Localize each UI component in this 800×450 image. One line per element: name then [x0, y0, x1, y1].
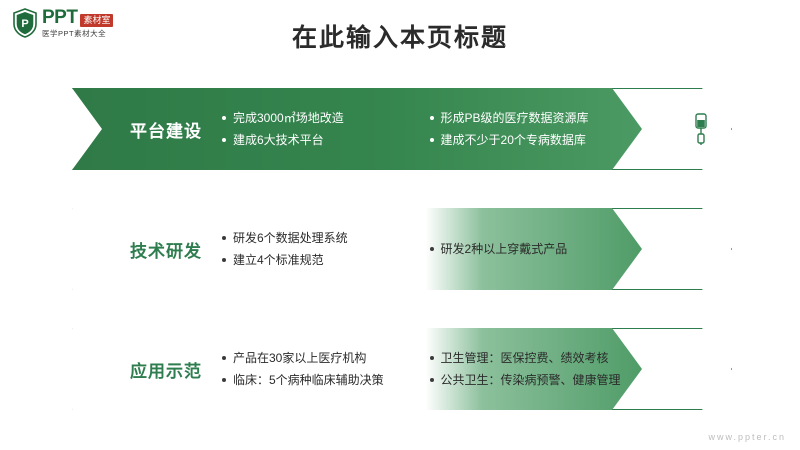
list-item: 研发2种以上穿戴式产品: [430, 241, 642, 257]
bullet-text: 形成PB级的医疗数据资源库: [441, 110, 589, 126]
bullet-dot-icon: [222, 138, 226, 142]
row-label-2: 技术研发: [106, 208, 226, 290]
bullet-text: 研发2种以上穿戴式产品: [441, 241, 568, 257]
bullet-column: 产品在30家以上医疗机构 临床：5个病种临床辅助决策: [222, 344, 430, 394]
bullet-text: 完成3000㎡场地改造: [233, 110, 344, 126]
list-item: 产品在30家以上医疗机构: [222, 350, 430, 366]
bullet-dot-icon: [430, 116, 434, 120]
bullet-text: 公共卫生：传染病预警、健康管理: [441, 372, 621, 388]
content-row-1: 平台建设 完成3000㎡场地改造 建成6大技术平台 形成PB级的医疗数据资源库: [72, 88, 732, 170]
iv-drip-icon: [684, 108, 718, 150]
ecg-monitor-icon: [684, 228, 718, 270]
bullet-column: 完成3000㎡场地改造 建成6大技术平台: [222, 104, 430, 154]
bullet-dot-icon: [430, 247, 434, 251]
row-bullets-3: 产品在30家以上医疗机构 临床：5个病种临床辅助决策 卫生管理：医保控费、绩效考…: [222, 328, 642, 410]
footer-watermark: www.ppter.cn: [708, 432, 786, 442]
bullet-text: 建成不少于20个专病数据库: [441, 132, 586, 148]
bullet-dot-icon: [430, 378, 434, 382]
list-item: 建成不少于20个专病数据库: [430, 132, 642, 148]
list-item: 建成6大技术平台: [222, 132, 430, 148]
list-item: 形成PB级的医疗数据资源库: [430, 110, 642, 126]
bullet-column: 研发2种以上穿戴式产品: [430, 235, 642, 263]
bullet-dot-icon: [222, 258, 226, 262]
bullet-text: 临床：5个病种临床辅助决策: [233, 372, 384, 388]
slide: P PPT 素材室 医学PPT素材大全 在此输入本页标题 平台建设 完成3000…: [0, 0, 800, 450]
bullet-text: 研发6个数据处理系统: [233, 230, 348, 246]
content-row-2: 技术研发 研发6个数据处理系统 建立4个标准规范 研发2种以上穿戴式产品: [72, 208, 732, 290]
row-bullets-2: 研发6个数据处理系统 建立4个标准规范 研发2种以上穿戴式产品: [222, 208, 642, 290]
list-item: 公共卫生：传染病预警、健康管理: [430, 372, 642, 388]
bullet-text: 卫生管理：医保控费、绩效考核: [441, 350, 609, 366]
bullet-text: 建立4个标准规范: [233, 252, 324, 268]
bullet-dot-icon: [222, 378, 226, 382]
bullet-column: 形成PB级的医疗数据资源库 建成不少于20个专病数据库: [430, 104, 642, 154]
infusion-stand-icon: [684, 348, 718, 390]
content-row-3: 应用示范 产品在30家以上医疗机构 临床：5个病种临床辅助决策 卫生管理：医保控…: [72, 328, 732, 410]
page-title: 在此输入本页标题: [0, 18, 800, 54]
list-item: 研发6个数据处理系统: [222, 230, 430, 246]
list-item: 临床：5个病种临床辅助决策: [222, 372, 430, 388]
row-bullets-1: 完成3000㎡场地改造 建成6大技术平台 形成PB级的医疗数据资源库 建成不少于…: [222, 88, 642, 170]
row-label-1: 平台建设: [106, 88, 226, 170]
bullet-dot-icon: [222, 236, 226, 240]
bullet-dot-icon: [222, 356, 226, 360]
list-item: 卫生管理：医保控费、绩效考核: [430, 350, 642, 366]
bullet-dot-icon: [430, 138, 434, 142]
list-item: 建立4个标准规范: [222, 252, 430, 268]
list-item: 完成3000㎡场地改造: [222, 110, 430, 126]
bullet-column: 研发6个数据处理系统 建立4个标准规范: [222, 224, 430, 274]
bullet-dot-icon: [430, 356, 434, 360]
bullet-dot-icon: [222, 116, 226, 120]
bullet-text: 建成6大技术平台: [233, 132, 324, 148]
row-label-3: 应用示范: [106, 328, 226, 410]
bullet-text: 产品在30家以上医疗机构: [233, 350, 366, 366]
bullet-column: 卫生管理：医保控费、绩效考核 公共卫生：传染病预警、健康管理: [430, 344, 642, 394]
